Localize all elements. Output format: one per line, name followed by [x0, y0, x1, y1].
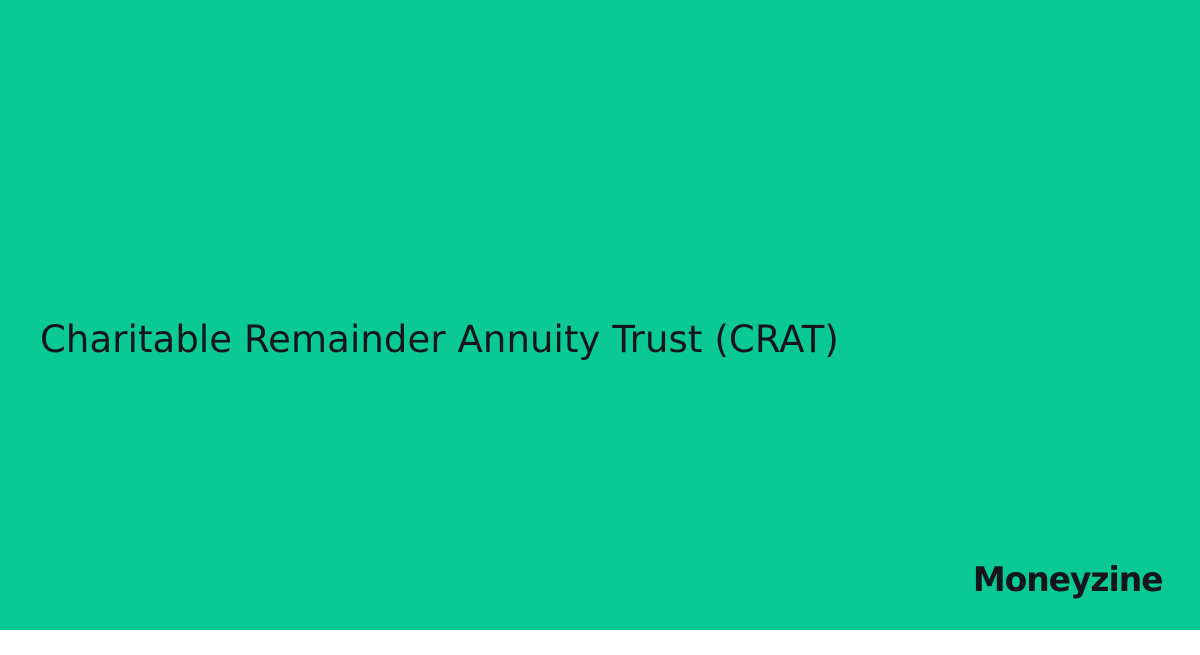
- page-title: Charitable Remainder Annuity Trust (CRAT…: [40, 25, 1100, 655]
- social-share-card: Charitable Remainder Annuity Trust (CRAT…: [0, 0, 1200, 630]
- moneyzine-logo-wordmark: Moneyzine: [972, 563, 1162, 597]
